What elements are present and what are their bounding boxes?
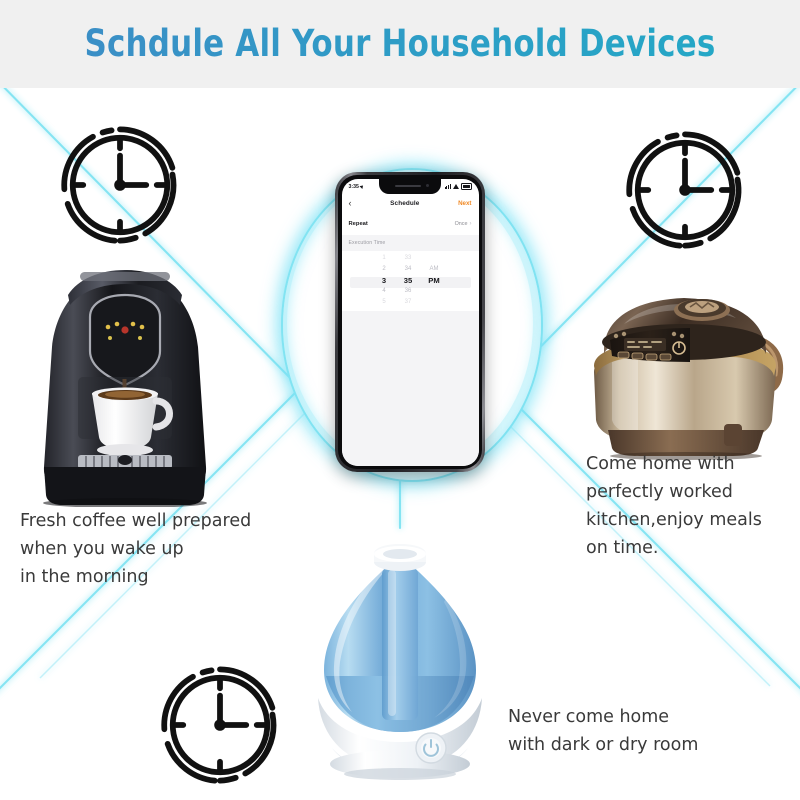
- repeat-value-text: Once: [455, 221, 468, 227]
- execution-time-label: Execution Time: [349, 240, 386, 246]
- minute-column[interactable]: 33 34 35 36 37: [395, 253, 421, 308]
- infographic-canvas: Schdule All Your Household Devices: [0, 0, 800, 800]
- location-arrow-icon: [360, 184, 365, 189]
- minute-option-selected[interactable]: 35: [404, 275, 412, 286]
- back-button[interactable]: ‹: [349, 199, 352, 208]
- app-navigation-bar: ‹ Schedule Next: [342, 195, 479, 213]
- screen-title: Schedule: [390, 200, 419, 207]
- meridiem-option[interactable]: AM: [430, 264, 439, 275]
- page-title: Schdule All Your Household Devices: [28, 22, 772, 65]
- minute-option[interactable]: 34: [405, 264, 412, 275]
- next-button[interactable]: Next: [458, 200, 471, 207]
- phone-bezel: 3:35 ‹ Schedule Next: [338, 175, 482, 469]
- hour-option[interactable]: 1: [382, 253, 385, 264]
- hour-option[interactable]: 4: [382, 286, 385, 297]
- meridiem-column[interactable]: AM PM: [421, 253, 447, 308]
- cellular-signal-icon: [445, 184, 451, 189]
- cool-mist-humidifier: [296, 536, 504, 784]
- repeat-value: Once ›: [455, 221, 472, 227]
- clock-icon: [157, 662, 283, 788]
- status-bar-time: 3:35: [349, 184, 359, 190]
- caption-rice-cooker: Come home with perfectly worked kitchen,…: [586, 450, 762, 562]
- chevron-right-icon: ›: [470, 221, 472, 227]
- earpiece-speaker-icon: [395, 185, 421, 187]
- espresso-coffee-machine: [30, 255, 220, 507]
- wifi-icon: [453, 184, 459, 189]
- clock-icon: [622, 127, 748, 253]
- schedule-form: Repeat Once › Execution Time 1 2: [342, 213, 479, 466]
- caption-coffee: Fresh coffee well prepared when you wake…: [20, 507, 251, 591]
- meridiem-option-selected[interactable]: PM: [428, 275, 439, 286]
- battery-full-icon: [461, 183, 472, 189]
- smartphone-mockup: 3:35 ‹ Schedule Next: [335, 172, 485, 472]
- rice-cooker: [578, 280, 792, 460]
- front-camera-icon: [426, 184, 429, 187]
- minute-option[interactable]: 33: [405, 253, 412, 264]
- hour-option[interactable]: 2: [382, 264, 385, 275]
- hour-option[interactable]: 5: [382, 297, 385, 308]
- time-picker[interactable]: 1 2 3 4 5 33 34 35 36 37: [342, 251, 479, 311]
- phone-notch: [379, 179, 441, 194]
- hour-column[interactable]: 1 2 3 4 5: [373, 253, 395, 308]
- clock-icon: [57, 122, 183, 248]
- minute-option[interactable]: 36: [405, 286, 412, 297]
- minute-option[interactable]: 37: [405, 297, 412, 308]
- repeat-label: Repeat: [349, 221, 368, 227]
- caption-humidifier: Never come home with dark or dry room: [508, 703, 698, 759]
- phone-screen: 3:35 ‹ Schedule Next: [342, 179, 479, 466]
- repeat-row[interactable]: Repeat Once ›: [342, 213, 479, 235]
- phone-hub: 3:35 ‹ Schedule Next: [281, 144, 539, 502]
- hour-option-selected[interactable]: 3: [382, 275, 386, 286]
